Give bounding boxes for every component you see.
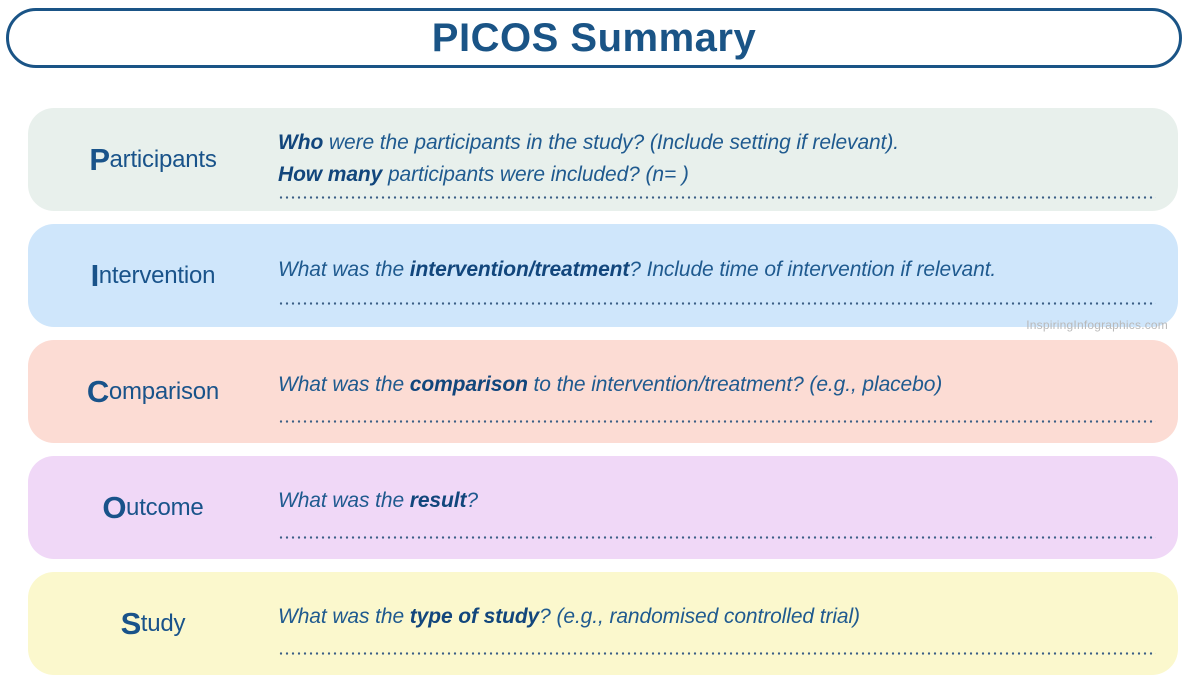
- answer-dotted-line[interactable]: [278, 420, 1156, 423]
- prompt-text: ?: [466, 489, 478, 512]
- prompt-text: ? (e.g., randomised controlled trial): [539, 605, 860, 628]
- title-banner: PICOS Summary: [6, 8, 1182, 68]
- row-label-intervention: Intervention: [28, 224, 278, 327]
- prompt-text: participants were included? (n= ): [382, 163, 689, 186]
- row-label-text: ntervention: [99, 264, 216, 288]
- prompt-text-pre: What was the: [278, 373, 410, 396]
- row-label-text: utcome: [126, 496, 204, 520]
- prompt-line: How many participants were included? (n=…: [278, 159, 1158, 190]
- row-label-participants: Participants: [28, 108, 278, 211]
- answer-dotted-line[interactable]: [278, 302, 1156, 305]
- row-initial-letter: O: [102, 492, 126, 523]
- answer-dotted-line[interactable]: [278, 536, 1156, 539]
- prompt-text-pre: What was the: [278, 258, 410, 281]
- prompt-text-pre: What was the: [278, 605, 410, 628]
- prompt-line: Who were the participants in the study? …: [278, 127, 1158, 158]
- picos-rows: Participants Who were the participants i…: [0, 108, 1200, 688]
- picos-row-comparison: Comparison What was the comparison to th…: [28, 340, 1178, 443]
- picos-row-participants: Participants Who were the participants i…: [28, 108, 1178, 211]
- row-body-participants: Who were the participants in the study? …: [278, 108, 1178, 211]
- prompt-keyword: Who: [278, 131, 323, 154]
- prompt-text: were the participants in the study? (Inc…: [323, 131, 899, 154]
- row-body-intervention: What was the intervention/treatment? Inc…: [278, 224, 1178, 327]
- picos-row-outcome: Outcome What was the result?: [28, 456, 1178, 559]
- prompt-line: What was the result?: [278, 485, 1158, 516]
- picos-row-study: Study What was the type of study? (e.g.,…: [28, 572, 1178, 675]
- prompt-keyword: intervention/treatment: [410, 258, 630, 281]
- prompt-line: What was the intervention/treatment? Inc…: [278, 254, 1158, 285]
- row-initial-letter: S: [121, 608, 141, 639]
- prompt-text-pre: What was the: [278, 489, 410, 512]
- row-label-text: tudy: [141, 612, 186, 636]
- prompt-keyword: type of study: [410, 605, 539, 628]
- row-label-text: articipants: [110, 148, 217, 172]
- page-title: PICOS Summary: [432, 18, 756, 58]
- picos-row-intervention: Intervention What was the intervention/t…: [28, 224, 1178, 327]
- prompt-text: ? Include time of intervention if releva…: [629, 258, 996, 281]
- prompt-keyword: comparison: [410, 373, 528, 396]
- row-label-comparison: Comparison: [28, 340, 278, 443]
- row-label-outcome: Outcome: [28, 456, 278, 559]
- row-initial-letter: I: [91, 260, 99, 291]
- row-initial-letter: C: [87, 376, 109, 407]
- prompt-keyword: How many: [278, 163, 382, 186]
- row-body-comparison: What was the comparison to the intervent…: [278, 340, 1178, 443]
- prompt-text: to the intervention/treatment? (e.g., pl…: [528, 373, 942, 396]
- watermark: InspiringInfographics.com: [1026, 318, 1168, 332]
- prompt-stack: Who were the participants in the study? …: [278, 127, 1158, 189]
- row-body-study: What was the type of study? (e.g., rando…: [278, 572, 1178, 675]
- answer-dotted-line[interactable]: [278, 652, 1156, 655]
- answer-dotted-line[interactable]: [278, 196, 1156, 199]
- row-body-outcome: What was the result?: [278, 456, 1178, 559]
- prompt-keyword: result: [410, 489, 467, 512]
- row-initial-letter: P: [89, 144, 109, 175]
- prompt-line: What was the comparison to the intervent…: [278, 369, 1158, 400]
- prompt-line: What was the type of study? (e.g., rando…: [278, 601, 1158, 632]
- row-label-study: Study: [28, 572, 278, 675]
- row-label-text: omparison: [109, 380, 219, 404]
